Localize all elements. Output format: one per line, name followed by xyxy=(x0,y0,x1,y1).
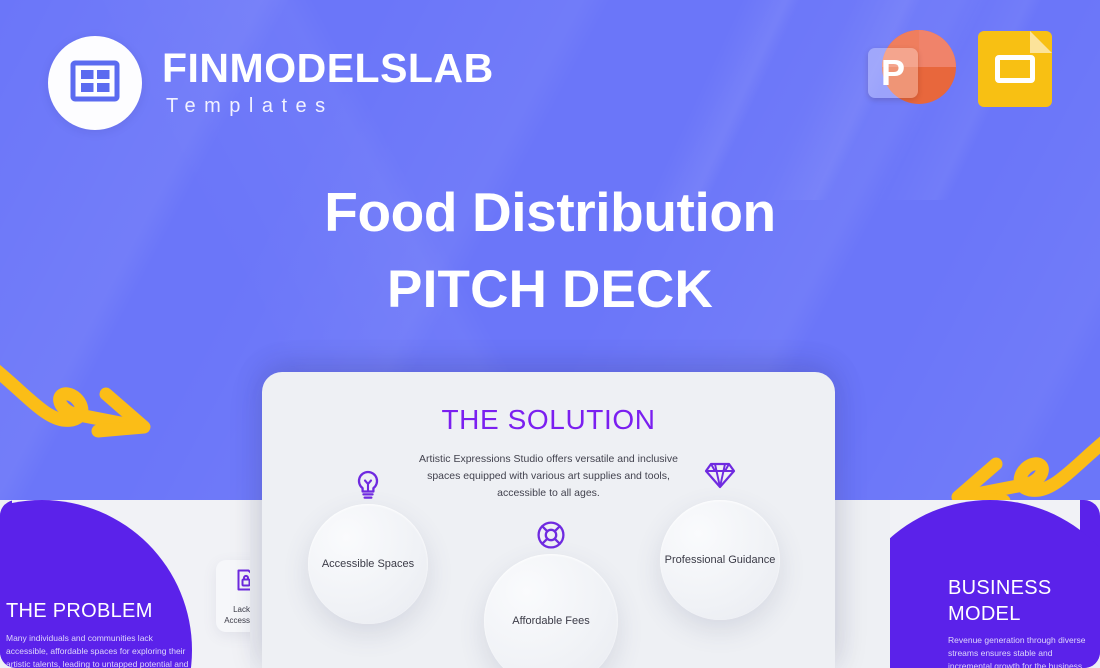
powerpoint-letter: P xyxy=(868,48,918,98)
problem-feature-chip[interactable]: Lack of Accessibility xyxy=(216,560,250,632)
brand-logo: FINMODELSLAB Templates xyxy=(48,36,494,130)
problem-chip-label: Lack of Accessibility xyxy=(213,605,250,627)
document-lock-icon xyxy=(236,569,250,596)
feature-label: Professional Guidance xyxy=(665,553,776,568)
slides-screen-shape xyxy=(995,55,1035,83)
grid-squares-icon xyxy=(69,55,121,112)
slide-card-solution[interactable]: THE SOLUTION Artistic Expressions Studio… xyxy=(262,372,835,668)
diamond-icon xyxy=(704,462,736,495)
brand-text-block: FINMODELSLAB Templates xyxy=(162,48,494,118)
brand-subtitle: Templates xyxy=(162,95,494,118)
solution-feature-accessible-spaces[interactable]: Accessible Spaces xyxy=(308,504,428,624)
brand-name: FINMODELSLAB xyxy=(162,48,494,90)
solution-title: THE SOLUTION xyxy=(262,404,835,436)
problem-body-text: Many individuals and communities lack ac… xyxy=(6,632,196,668)
format-badges: P xyxy=(868,26,1052,110)
solution-feature-affordable-fees[interactable]: Affordable Fees xyxy=(484,554,618,668)
feature-circle: Affordable Fees xyxy=(484,554,618,668)
business-title: BUSINESS MODEL xyxy=(948,576,1100,627)
slide-card-problem[interactable]: THE PROBLEM Many individuals and communi… xyxy=(0,500,250,668)
slide-preview-canvas: FINMODELSLAB Templates P Food Distributi… xyxy=(0,0,1100,668)
hero-title-block: Food Distribution PITCH DECK xyxy=(0,182,1100,319)
lifebuoy-icon xyxy=(536,520,566,555)
feature-circle: Accessible Spaces xyxy=(308,504,428,624)
hero-title-primary: Food Distribution xyxy=(0,182,1100,243)
business-body-text: Revenue generation through diverse strea… xyxy=(948,634,1098,668)
brand-mark-circle xyxy=(48,36,142,130)
powerpoint-icon: P xyxy=(868,26,952,110)
feature-label: Affordable Fees xyxy=(512,614,589,629)
feature-circle: Professional Guidance xyxy=(660,500,780,620)
squiggly-arrow-right-icon xyxy=(0,352,179,447)
solution-body-text: Artistic Expressions Studio offers versa… xyxy=(414,451,684,502)
solution-feature-professional-guidance[interactable]: Professional Guidance xyxy=(660,500,780,620)
problem-title: THE PROBLEM xyxy=(6,600,153,623)
hero-title-secondary: PITCH DECK xyxy=(0,261,1100,319)
feature-label: Accessible Spaces xyxy=(322,557,414,572)
google-slides-icon xyxy=(978,26,1052,110)
lightbulb-icon xyxy=(355,470,381,507)
slide-card-business-model[interactable]: Workshops BUSINESS MODEL Revenue generat… xyxy=(890,500,1100,668)
